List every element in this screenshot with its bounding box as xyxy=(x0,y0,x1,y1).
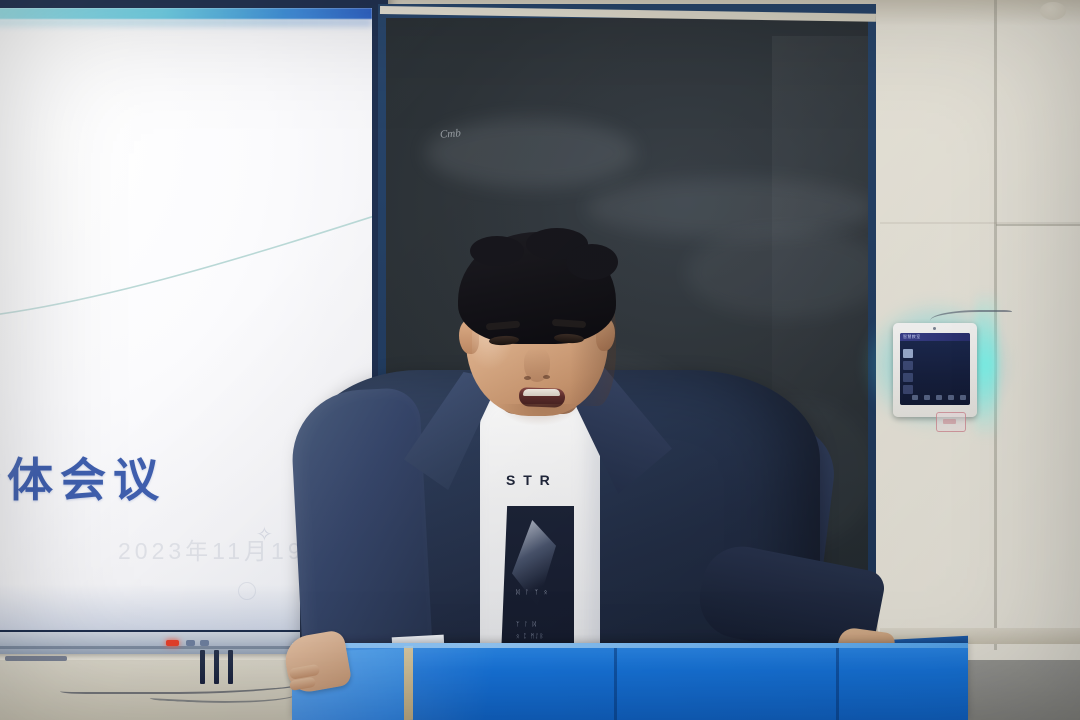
photo-scene: 全体会议 2023年11月19日 ✧ Cmb 智慧教室 xyxy=(0,0,1080,720)
nostril-left xyxy=(524,376,531,380)
hair-tuft-1 xyxy=(470,236,524,266)
hair-tuft-3 xyxy=(566,244,618,280)
nostril-right xyxy=(543,375,550,379)
chin-shadow xyxy=(498,404,580,426)
speaker: S T R ᛞ ᛚ ᛉ ᛟ ᛉ ᛚ ᛞ ᛟ ᛈ ᛗᛇᛒ xyxy=(0,0,1080,720)
t-shirt-graphic-line-0: ᛞ ᛚ ᛉ ᛟ xyxy=(516,590,549,596)
jacket-left-arm xyxy=(289,387,433,663)
t-shirt-graphic-line-1: ᛉ ᛚ ᛞ xyxy=(516,622,538,628)
t-shirt-text: S T R xyxy=(506,472,552,488)
podium-shine xyxy=(292,643,968,720)
teeth xyxy=(523,389,560,396)
t-shirt-graphic-line-2: ᛟ ᛈ ᛗᛇᛒ xyxy=(516,634,544,640)
